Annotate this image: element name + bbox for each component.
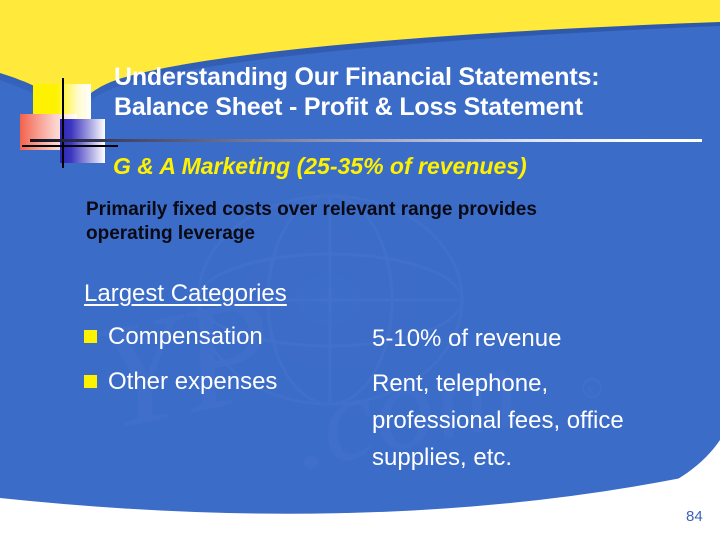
section-heading: Largest Categories	[84, 280, 287, 308]
decorative-logo	[18, 78, 118, 168]
bullet-list: Compensation 5-10% of revenue Other expe…	[84, 320, 684, 484]
slide-title: Understanding Our Financial Statements: …	[114, 62, 706, 122]
square-bullet-icon	[84, 330, 97, 343]
bullet-label: Compensation	[108, 320, 372, 353]
list-item: Compensation 5-10% of revenue	[84, 320, 684, 357]
title-divider-rule	[30, 139, 702, 142]
title-line-1: Understanding Our Financial Statements:	[114, 62, 706, 92]
page-number: 84	[686, 508, 703, 525]
logo-vertical-line	[62, 78, 64, 168]
bullet-value: 5-10% of revenue	[372, 320, 684, 357]
slide-subtitle: G & A Marketing (25-35% of revenues)	[113, 153, 527, 180]
title-line-2: Balance Sheet - Profit & Loss Statement	[114, 92, 706, 122]
logo-horizontal-line	[22, 145, 118, 147]
square-bullet-icon	[84, 375, 97, 388]
list-item: Other expenses Rent, telephone, professi…	[84, 365, 684, 476]
bullet-label: Other expenses	[108, 365, 372, 398]
note-line-2: operating leverage	[86, 222, 656, 246]
bullet-value: Rent, telephone, professional fees, offi…	[372, 365, 684, 476]
note-text: Primarily fixed costs over relevant rang…	[86, 198, 656, 246]
slide: YP .com R Understanding Our Financial St…	[0, 0, 720, 540]
note-line-1: Primarily fixed costs over relevant rang…	[86, 198, 656, 222]
